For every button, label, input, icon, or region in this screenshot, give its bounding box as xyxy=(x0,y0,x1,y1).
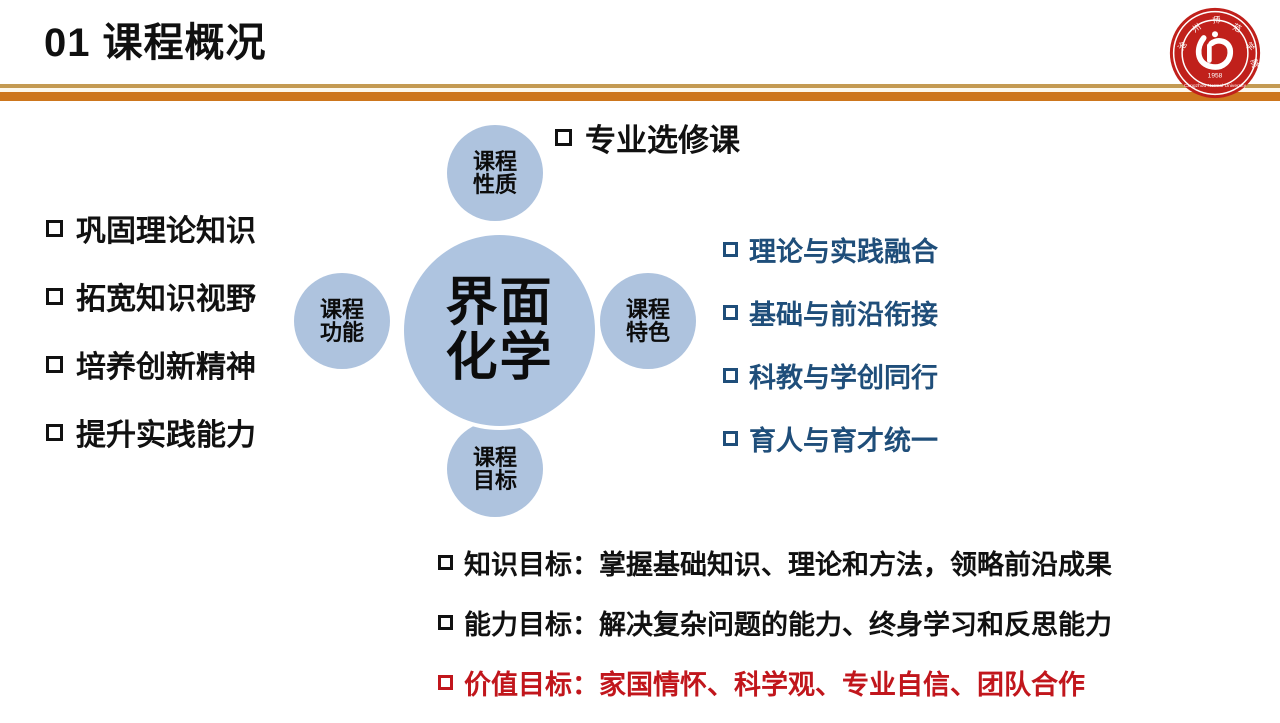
university-logo-icon: 1958 Cangzhou Normal University 沧 州 师 范 … xyxy=(1168,6,1262,100)
diagram-core-node-interface-chemistry: 界面 化学 xyxy=(404,235,595,426)
list-item: 育人与育才统一 xyxy=(723,419,938,458)
node-label-line2: 特色 xyxy=(626,320,670,345)
goal-label: 价值目标：家国情怀、科学观、专业自信、团队合作 xyxy=(464,663,1085,702)
diagram-node-course-goals: 课程 目标 xyxy=(447,421,543,517)
page-title: 01课程概况 xyxy=(44,21,267,65)
course-goals-list: 知识目标：掌握基础知识、理论和方法，领略前沿成果 能力目标：解决复杂问题的能力、… xyxy=(438,543,1112,723)
page-title-text: 课程概况 xyxy=(103,21,267,65)
header-divider-orange xyxy=(0,92,1280,101)
core-label-line2: 化学 xyxy=(445,329,553,387)
node-label-line2: 目标 xyxy=(473,468,517,493)
goal-value: 价值目标：家国情怀、科学观、专业自信、团队合作 xyxy=(438,663,1112,702)
list-item-label: 提升实践能力 xyxy=(76,410,256,454)
list-item: 科教与学创同行 xyxy=(723,356,938,395)
list-item-label: 科教与学创同行 xyxy=(749,356,938,395)
node-label-line2: 功能 xyxy=(320,320,364,345)
list-item: 培养创新精神 xyxy=(46,342,256,386)
core-label-line1: 界面 xyxy=(445,274,553,332)
right-features-list: 理论与实践融合 基础与前沿衔接 科教与学创同行 育人与育才统一 xyxy=(723,230,938,482)
square-bullet-icon xyxy=(438,675,453,690)
svg-text:Cangzhou Normal University: Cangzhou Normal University xyxy=(1184,83,1247,89)
list-item-label: 巩固理论知识 xyxy=(76,206,256,250)
list-item-label: 拓宽知识视野 xyxy=(76,274,256,318)
square-bullet-icon xyxy=(46,356,63,373)
list-item: 理论与实践融合 xyxy=(723,230,938,269)
diagram-node-course-features: 课程 特色 xyxy=(600,273,696,369)
square-bullet-icon xyxy=(723,242,738,257)
svg-text:师: 师 xyxy=(1212,15,1221,26)
node-label-line2: 性质 xyxy=(473,172,517,197)
square-bullet-icon xyxy=(46,288,63,305)
list-item-label: 育人与育才统一 xyxy=(749,419,938,458)
node-label-line1: 课程 xyxy=(320,297,364,322)
list-item: 拓宽知识视野 xyxy=(46,274,256,318)
goal-ability: 能力目标：解决复杂问题的能力、终身学习和反思能力 xyxy=(438,603,1112,642)
square-bullet-icon xyxy=(723,368,738,383)
node-label-line1: 课程 xyxy=(626,297,670,322)
node-label-line1: 课程 xyxy=(473,149,517,174)
square-bullet-icon xyxy=(46,220,63,237)
square-bullet-icon xyxy=(438,615,453,630)
square-bullet-icon xyxy=(723,305,738,320)
goal-label: 能力目标：解决复杂问题的能力、终身学习和反思能力 xyxy=(464,603,1112,642)
list-item: 提升实践能力 xyxy=(46,410,256,454)
slide-canvas: 01课程概况 1958 Cangzhou Normal University 沧… xyxy=(0,0,1280,720)
node-label-line1: 课程 xyxy=(473,445,517,470)
diagram-node-course-nature: 课程 性质 xyxy=(447,125,543,221)
diagram-node-course-function: 课程 功能 xyxy=(294,273,390,369)
list-item-label: 理论与实践融合 xyxy=(749,230,938,269)
list-item-label: 培养创新精神 xyxy=(76,342,256,386)
goal-label: 知识目标：掌握基础知识、理论和方法，领略前沿成果 xyxy=(464,543,1112,582)
list-item: 基础与前沿衔接 xyxy=(723,293,938,332)
svg-text:1958: 1958 xyxy=(1208,72,1223,79)
square-bullet-icon xyxy=(46,424,63,441)
left-benefits-list: 巩固理论知识 拓宽知识视野 培养创新精神 提升实践能力 xyxy=(46,206,256,478)
goal-knowledge: 知识目标：掌握基础知识、理论和方法，领略前沿成果 xyxy=(438,543,1112,582)
course-overview-diagram: 课程 性质 课程 功能 课程 特色 课程 目标 界面 化 xyxy=(280,118,710,528)
square-bullet-icon xyxy=(438,555,453,570)
list-item-label: 基础与前沿衔接 xyxy=(749,293,938,332)
page-title-number: 01 xyxy=(44,21,91,65)
square-bullet-icon xyxy=(723,431,738,446)
list-item: 巩固理论知识 xyxy=(46,206,256,250)
